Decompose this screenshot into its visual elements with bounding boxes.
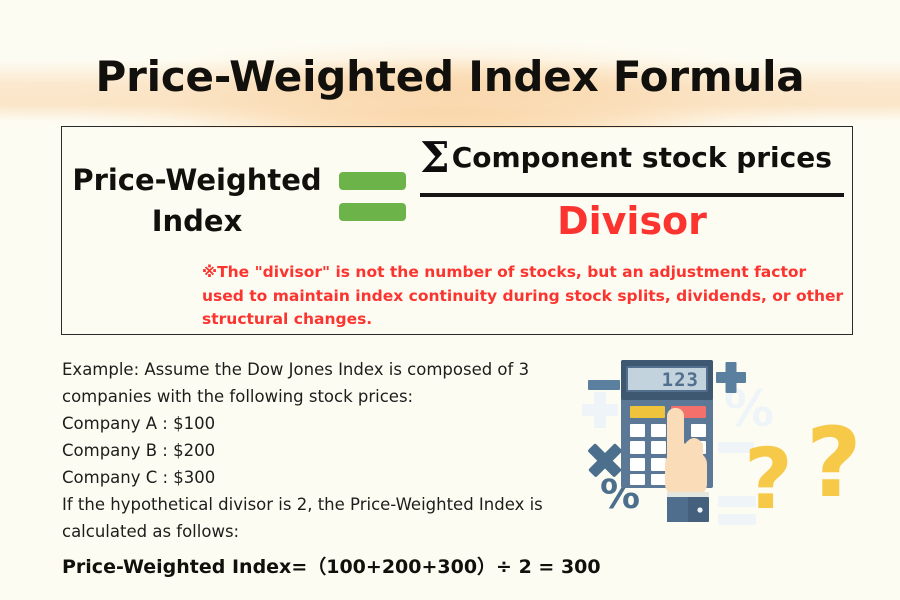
infographic-page: Price-Weighted Index Formula Price-Weigh… xyxy=(0,0,900,600)
pale-plus-icon xyxy=(582,392,618,428)
example-line-4: Company B : $200 xyxy=(62,437,567,464)
equals-sign-icon xyxy=(339,172,406,221)
example-line-3: Company A : $100 xyxy=(62,410,567,437)
calculator-illustration: % % xyxy=(566,356,896,556)
formula-left-side: Price-Weighted Index xyxy=(66,160,328,242)
example-line-5: Company C : $300 xyxy=(62,464,567,491)
formula-fraction: Σ Component stock prices Divisor xyxy=(420,131,844,242)
page-title: Price-Weighted Index Formula xyxy=(0,52,900,101)
formula-denominator: Divisor xyxy=(420,202,844,242)
example-block: Example: Assume the Dow Jones Index is c… xyxy=(62,356,567,545)
equals-bar-bottom xyxy=(339,203,406,221)
sigma-icon: Σ xyxy=(420,137,450,179)
formula-lhs-line2: Index xyxy=(66,201,328,242)
formula-lhs-line1: Price-Weighted xyxy=(66,160,328,201)
formula-numerator-text: Component stock prices xyxy=(452,144,832,172)
calculator-display: 123 xyxy=(662,369,699,391)
example-line-2: companies with the following stock price… xyxy=(62,383,567,410)
minus-icon xyxy=(588,380,620,390)
example-line-1: Example: Assume the Dow Jones Index is c… xyxy=(62,356,567,383)
formula-numerator: Σ Component stock prices xyxy=(420,131,844,185)
example-line-7: calculated as follows: xyxy=(62,518,567,545)
equals-bar-top xyxy=(339,172,406,190)
result-equation: Price-Weighted Index=（100+200+300）÷ 2 = … xyxy=(62,552,601,579)
example-line-6: If the hypothetical divisor is 2, the Pr… xyxy=(62,491,567,518)
divisor-note: ※The "divisor" is not the number of stoc… xyxy=(202,261,850,332)
question-mark-icon-small: ? xyxy=(744,430,793,528)
fraction-bar xyxy=(420,193,844,197)
question-mark-icon-large: ? xyxy=(806,407,862,519)
calc-button-yellow xyxy=(630,406,665,418)
